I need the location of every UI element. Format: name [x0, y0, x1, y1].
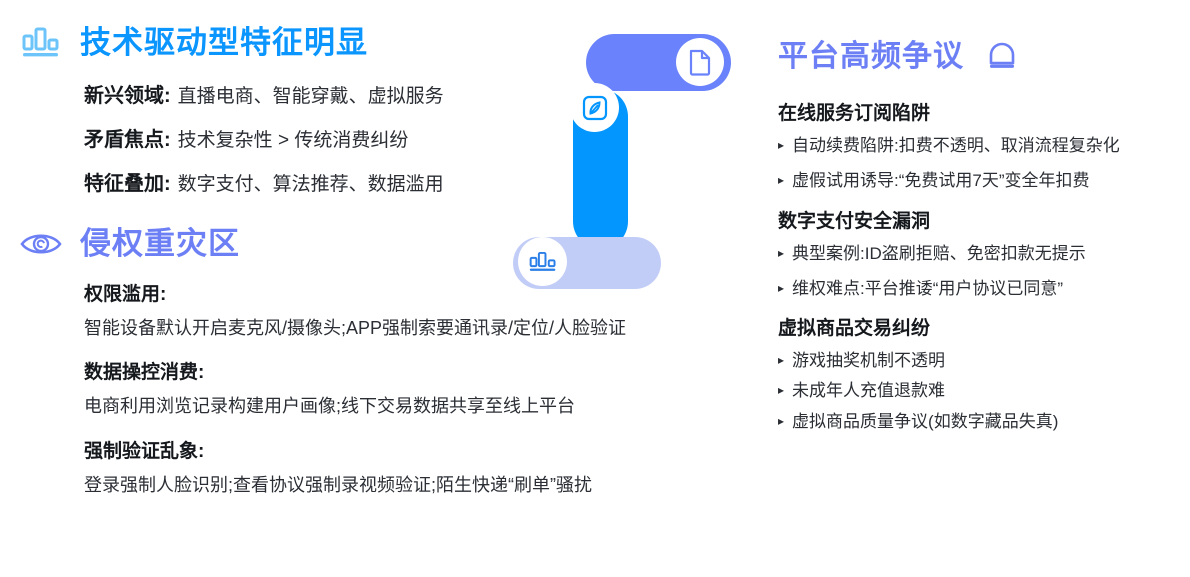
bullet-icon: ▸ — [778, 281, 784, 296]
list-item: ▸ 自动续费陷阱:扣费不透明、取消流程复杂化 — [778, 135, 1180, 156]
infringement-blocks: 权限滥用: 智能设备默认开启麦克风/摄像头;APP强制索要通讯录/定位/人脸验证… — [84, 279, 758, 497]
section-header-disputes: 平台高频争议 — [778, 36, 1180, 76]
sub-block-body: 登录强制人脸识别;查看协议强制录视频验证;陌生快递“刷单”骚扰 — [84, 474, 758, 497]
group-title: 数字支付安全漏洞 — [778, 206, 1180, 233]
bullet-icon: ▸ — [778, 138, 784, 153]
kv-value: 直播电商、智能穿戴、虚拟服务 — [178, 85, 444, 109]
eye-icon — [18, 223, 64, 265]
list-item: ▸ 典型案例:ID盗刷拒赔、免密扣款无提示 — [778, 243, 1180, 264]
bullet-icon: ▸ — [778, 246, 784, 261]
list-item-label: 虚拟商品质量争议(如数字藏品失真) — [792, 411, 1058, 432]
list-item-label: 游戏抽奖机制不透明 — [792, 350, 945, 371]
bar-chart-icon — [18, 22, 64, 64]
page-title: 技术驱动型特征明显 — [80, 26, 368, 60]
kv-key: 特征叠加 — [84, 172, 164, 197]
bullet-icon: ▸ — [778, 353, 784, 368]
bullet-icon: ▸ — [778, 173, 784, 188]
bullet-icon: ▸ — [778, 383, 784, 398]
list-item-label: 典型案例:ID盗刷拒赔、免密扣款无提示 — [792, 243, 1086, 264]
bell-icon — [982, 36, 1022, 76]
sub-block-title: 数据操控消费: — [84, 357, 758, 384]
dispute-group: 虚拟商品交易纠纷 ▸ 游戏抽奖机制不透明 ▸ 未成年人充值退款难 ▸ 虚拟商品质… — [778, 313, 1180, 432]
kv-separator: : — [164, 84, 171, 109]
kv-value: 数字支付、算法推荐、数据滥用 — [178, 173, 444, 197]
list-item-label: 维权难点:平台推诿“用户协议已同意” — [792, 278, 1063, 299]
right-column: 平台高频争议 在线服务订阅陷阱 ▸ 自动续费陷阱:扣费不透明、取消流程复杂化 ▸… — [778, 36, 1180, 446]
group-title: 虚拟商品交易纠纷 — [778, 313, 1180, 340]
dispute-group: 在线服务订阅陷阱 ▸ 自动续费陷阱:扣费不透明、取消流程复杂化 ▸ 虚假试用诱导… — [778, 98, 1180, 192]
kv-separator: : — [164, 172, 171, 197]
list-item-label: 虚假试用诱导:“免费试用7天”变全年扣费 — [792, 170, 1090, 191]
list-item: ▸ 维权难点:平台推诿“用户协议已同意” — [778, 278, 1180, 299]
bar-chart-icon — [518, 237, 567, 286]
list-item: ▸ 游戏抽奖机制不透明 — [778, 350, 1180, 371]
kv-key: 矛盾焦点 — [84, 128, 164, 153]
list-item: 数据操控消费: 电商利用浏览记录构建用户画像;线下交易数据共享至线上平台 — [84, 357, 758, 418]
sub-block-body: 电商利用浏览记录构建用户画像;线下交易数据共享至线上平台 — [84, 395, 758, 418]
kv-key: 新兴领域 — [84, 84, 164, 109]
list-item: 强制验证乱象: 登录强制人脸识别;查看协议强制录视频验证;陌生快递“刷单”骚扰 — [84, 436, 758, 497]
kv-separator: : — [164, 128, 171, 153]
list-item: ▸ 虚假试用诱导:“免费试用7天”变全年扣费 — [778, 170, 1180, 191]
pen-edit-icon — [570, 83, 619, 132]
list-item-label: 自动续费陷阱:扣费不透明、取消流程复杂化 — [792, 135, 1120, 156]
list-item: ▸ 虚拟商品质量争议(如数字藏品失真) — [778, 411, 1180, 432]
dispute-group: 数字支付安全漏洞 ▸ 典型案例:ID盗刷拒赔、免密扣款无提示 ▸ 维权难点:平台… — [778, 206, 1180, 300]
bullet-icon: ▸ — [778, 414, 784, 429]
sub-block-body: 智能设备默认开启麦克风/摄像头;APP强制索要通讯录/定位/人脸验证 — [84, 317, 758, 340]
list-item: ▸ 未成年人充值退款难 — [778, 380, 1180, 401]
center-graphic — [513, 34, 743, 294]
sub-block-title: 强制验证乱象: — [84, 436, 758, 463]
list-item-label: 未成年人充值退款难 — [792, 380, 945, 401]
infographic-root: 技术驱动型特征明显 新兴领域 : 直播电商、智能穿戴、虚拟服务 矛盾焦点 : 技… — [0, 0, 1190, 577]
group-title: 在线服务订阅陷阱 — [778, 98, 1180, 125]
kv-value: 技术复杂性 > 传统消费纠纷 — [178, 129, 409, 153]
section-title-infringement: 侵权重灾区 — [80, 227, 240, 261]
section-title-disputes: 平台高频争议 — [778, 40, 964, 73]
document-icon — [676, 38, 724, 86]
